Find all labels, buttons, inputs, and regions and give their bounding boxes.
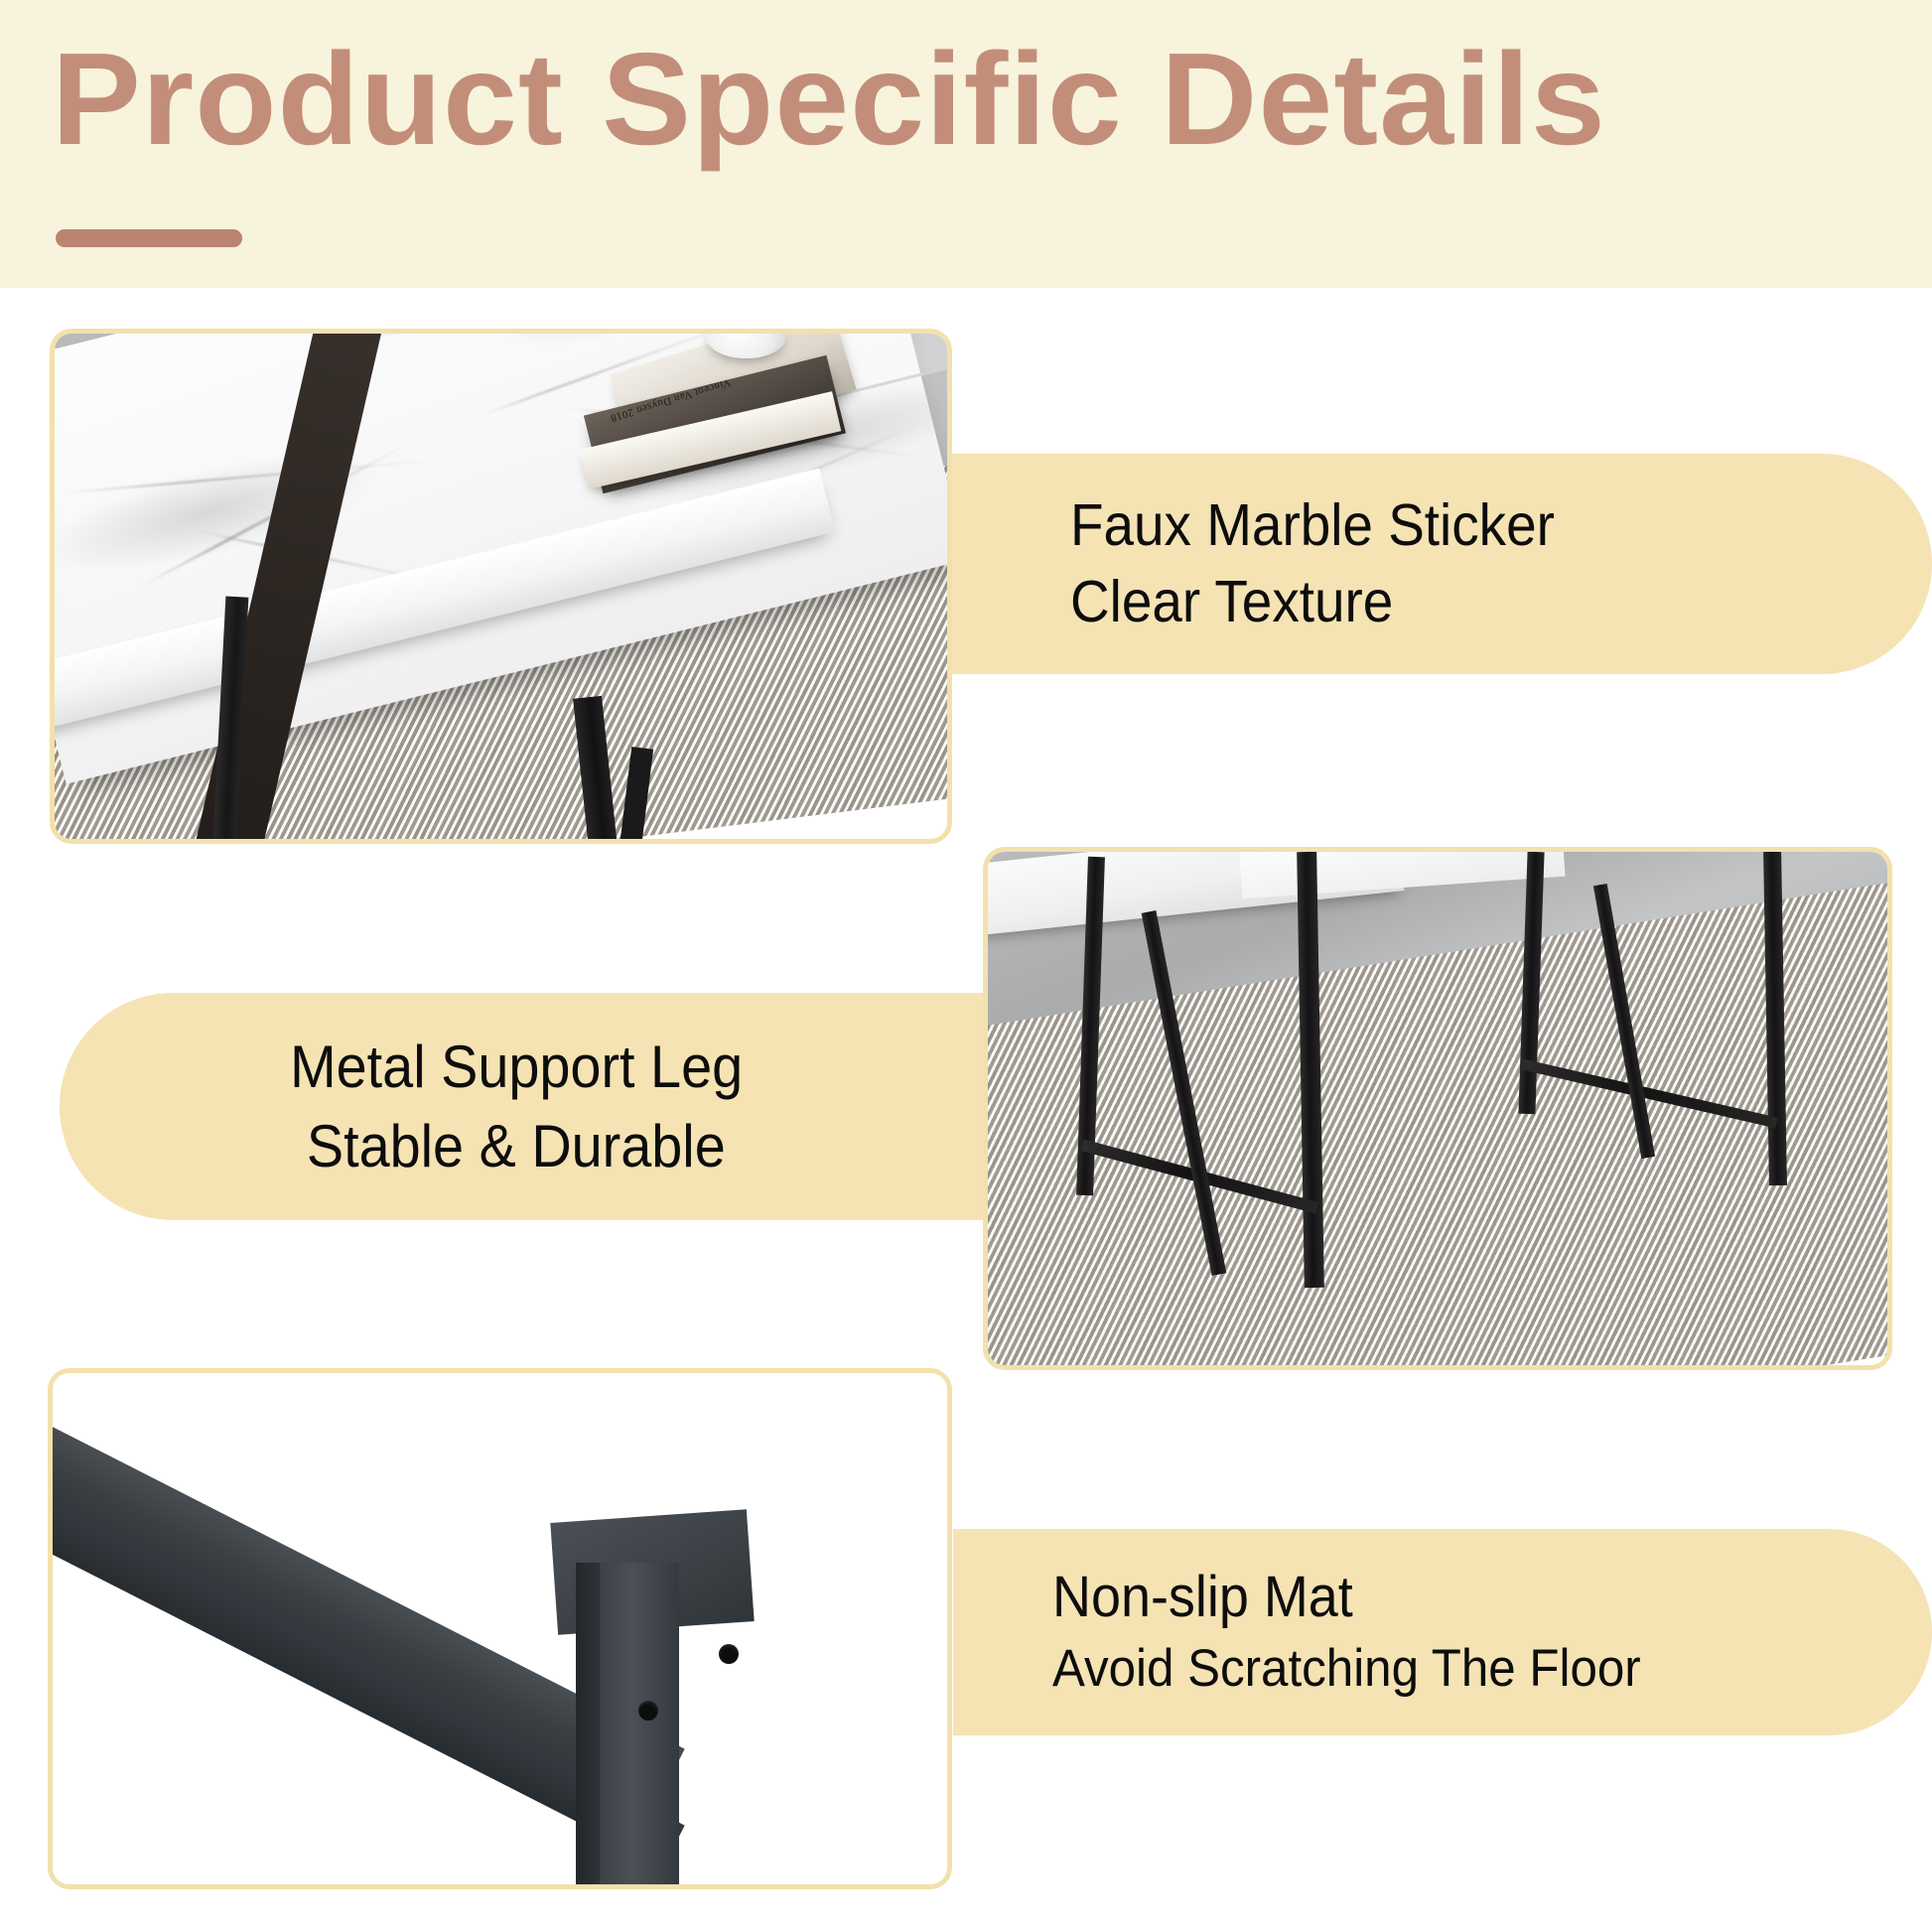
callout-non-slip-mat: Non-slip Mat Avoid Scratching The Floor	[953, 1529, 1932, 1735]
screw-hole-upper	[719, 1644, 739, 1664]
callout-faux-marble-line1: Faux Marble Sticker	[1070, 487, 1555, 564]
callout-non-slip-mat-line2: Avoid Scratching The Floor	[1052, 1634, 1641, 1704]
metal-leg-post-edge	[576, 1563, 599, 1889]
photo-faux-marble-scene: Vincent Van Duysen 2018	[55, 334, 947, 839]
photo-metal-legs-scene	[988, 852, 1887, 1365]
photo-non-slip-leg-joint	[48, 1368, 952, 1889]
callout-metal-support-leg: Metal Support Leg Stable & Durable	[60, 993, 1003, 1220]
callout-faux-marble: Faux Marble Sticker Clear Texture	[923, 454, 1932, 674]
photo-leg-joint-scene	[53, 1373, 947, 1884]
photo-metal-support-legs	[983, 847, 1892, 1370]
callout-faux-marble-line2: Clear Texture	[1070, 564, 1393, 640]
callout-non-slip-mat-line1: Non-slip Mat	[1052, 1561, 1353, 1634]
marble-vein	[54, 459, 442, 494]
callout-metal-support-leg-line1: Metal Support Leg	[290, 1028, 743, 1107]
header-band: Product Specific Details	[0, 0, 1932, 288]
photo-faux-marble-tabletop: Vincent Van Duysen 2018	[50, 329, 952, 844]
title-accent-bar	[56, 229, 242, 247]
page-title: Product Specific Details	[52, 30, 1606, 169]
callout-metal-support-leg-line2: Stable & Durable	[307, 1107, 726, 1186]
screw-hole-lower	[638, 1701, 658, 1721]
